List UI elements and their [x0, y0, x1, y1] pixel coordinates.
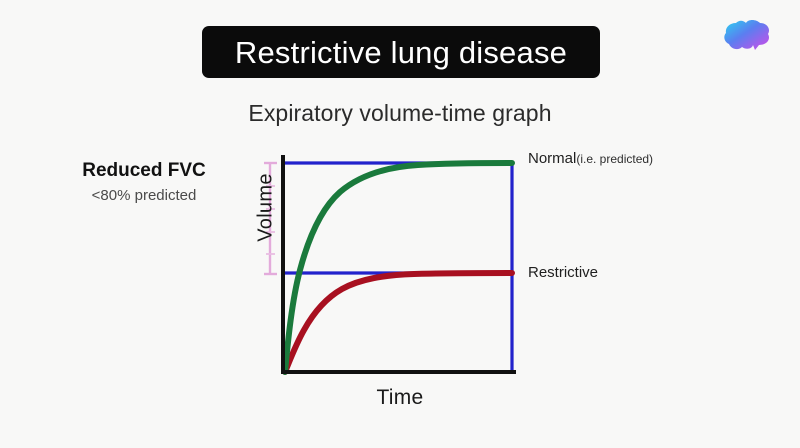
plateau-lines [283, 162, 513, 373]
chart-axes [281, 155, 516, 373]
reduced-fvc-title: Reduced FVC [38, 160, 250, 182]
x-axis-label: Time [330, 386, 470, 410]
normal-curve [285, 163, 512, 372]
subtitle: Expiratory volume-time graph [0, 100, 800, 127]
title-banner: Restrictive lung disease [202, 26, 600, 78]
restrictive-curve-label: Restrictive [528, 264, 598, 281]
page-title: Restrictive lung disease [235, 37, 567, 68]
normal-curve-label-main: Normal [528, 150, 576, 167]
restrictive-curve [285, 273, 512, 372]
normal-curve-label: Normal(i.e. predicted) [528, 150, 653, 167]
reduced-fvc-annotation: Reduced FVC <80% predicted [38, 160, 250, 204]
slide-root: Restrictive lung disease Expiratory volu… [0, 0, 800, 448]
reduced-fvc-subtitle: <80% predicted [38, 187, 250, 204]
y-axis-label: Volume [255, 148, 278, 268]
brain-logo [722, 14, 774, 58]
normal-curve-label-note: (i.e. predicted) [576, 152, 653, 166]
